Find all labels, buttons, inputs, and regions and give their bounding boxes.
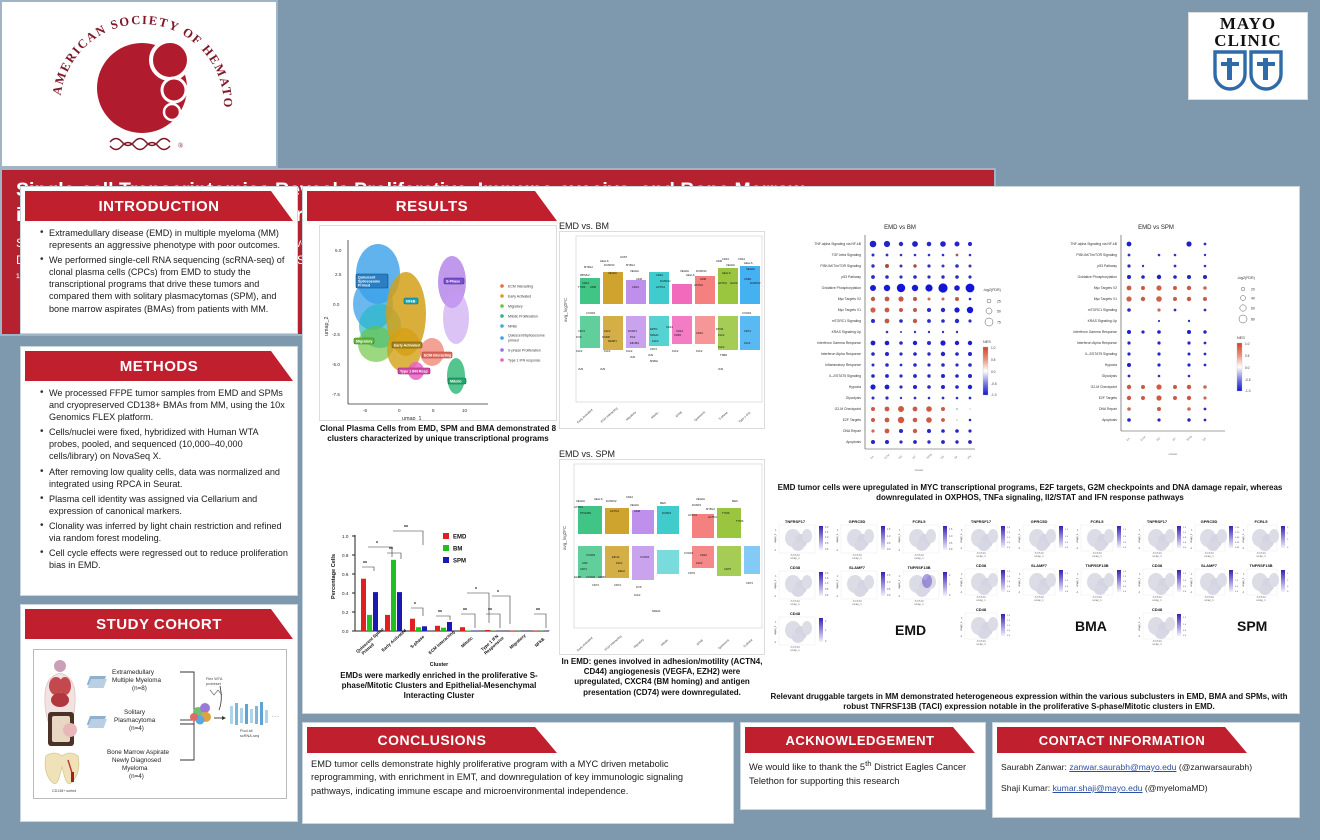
svg-text:-5 0 5 10: -5 0 5 10 xyxy=(790,600,800,603)
svg-text:1.0: 1.0 xyxy=(825,582,829,585)
svg-text:Solitary: Solitary xyxy=(124,709,146,716)
svg-text:Type 1 IFN Resp: Type 1 IFN Resp xyxy=(400,370,428,374)
svg-text:0.4: 0.4 xyxy=(342,591,349,596)
svg-text:p53 Pathway: p53 Pathway xyxy=(1097,264,1117,268)
svg-text:EA: EA xyxy=(869,454,874,459)
svg-text:4: 4 xyxy=(775,529,777,532)
svg-text:MG: MG xyxy=(897,454,903,460)
svg-text:1.5: 1.5 xyxy=(1007,576,1011,578)
svg-text:1.5: 1.5 xyxy=(825,531,829,534)
svg-text:0.4: 0.4 xyxy=(1183,542,1187,544)
svg-text:-5 0 5 10: -5 0 5 10 xyxy=(1092,596,1102,599)
svg-text:5: 5 xyxy=(432,408,435,413)
svg-text:-4: -4 xyxy=(1138,635,1141,638)
svg-text:1.5: 1.5 xyxy=(1007,620,1011,622)
svg-text:0.0: 0.0 xyxy=(1235,591,1239,593)
methods-bullets: We processed FFPE tumor samples from EMD… xyxy=(29,387,289,571)
svg-text:4: 4 xyxy=(1243,529,1245,532)
svg-text:Apoptosis: Apoptosis xyxy=(1102,418,1117,422)
svg-text:2.0: 2.0 xyxy=(1007,571,1011,573)
svg-text:1.5: 1.5 xyxy=(1183,573,1187,575)
svg-text:**: ** xyxy=(389,547,393,553)
svg-text:DUSP22: DUSP22 xyxy=(696,269,707,273)
svg-text:probeset: probeset xyxy=(206,682,222,686)
svg-text:4: 4 xyxy=(961,529,963,532)
svg-text:SLAMF7: SLAMF7 xyxy=(1201,563,1218,568)
svg-text:CD44: CD44 xyxy=(656,273,663,277)
svg-text:0.0: 0.0 xyxy=(1007,547,1011,549)
conclusions-panel: CONCLUSIONS EMD tumor cells demonstrate … xyxy=(302,722,734,824)
svg-text:ACTN4: ACTN4 xyxy=(718,281,727,285)
list-item: We performed single-cell RNA sequencing … xyxy=(41,254,289,314)
svg-text:IL-2/STAT5 Signaling: IL-2/STAT5 Signaling xyxy=(1085,352,1117,356)
gsea-emd-vs-bm-figure: EMD vs BM TNF-alpha Signaling via NF-kB … xyxy=(769,225,1031,475)
svg-text:Interferon Alpha Response: Interferon Alpha Response xyxy=(1077,341,1117,345)
svg-text:-5 0 5 10: -5 0 5 10 xyxy=(976,552,986,555)
svg-text:0.0: 0.0 xyxy=(1123,591,1127,593)
svg-text:1.0: 1.0 xyxy=(1287,539,1289,541)
svg-text:DUSP4: DUSP4 xyxy=(692,503,701,507)
contact-name: Shaji Kumar: xyxy=(1001,783,1050,793)
svg-text:0.0: 0.0 xyxy=(887,548,891,551)
svg-text:HELLS: HELLS xyxy=(722,271,731,275)
svg-text:Mitotic: Mitotic xyxy=(450,380,462,384)
svg-text:- - -: - - - xyxy=(272,714,279,719)
svg-text:4: 4 xyxy=(1139,573,1141,576)
svg-text:0.5: 0.5 xyxy=(1007,542,1011,544)
svg-text:0.5: 0.5 xyxy=(1007,586,1011,588)
svg-text:0.5: 0.5 xyxy=(887,542,891,545)
svg-text:EZH2: EZH2 xyxy=(618,569,625,573)
svg-text:ECM Interacting: ECM Interacting xyxy=(427,629,455,655)
svg-text:0.8: 0.8 xyxy=(342,553,349,558)
svg-text:-5 0 5 10: -5 0 5 10 xyxy=(1204,596,1214,599)
svg-text:4: 4 xyxy=(775,621,777,624)
svg-text:0.25: 0.25 xyxy=(1235,542,1240,544)
svg-text:Early Activated: Early Activated xyxy=(394,344,420,348)
svg-text:GPRC5D: GPRC5D xyxy=(1201,519,1218,524)
svg-text:Plasmacytoma: Plasmacytoma xyxy=(114,717,156,724)
svg-text:MES: MES xyxy=(732,499,738,503)
methods-panel: METHODS We processed FFPE tumor samples … xyxy=(20,346,298,596)
svg-text:1.5: 1.5 xyxy=(887,574,891,577)
svg-text:0.0: 0.0 xyxy=(1287,591,1289,593)
svg-text:-4: -4 xyxy=(836,595,839,598)
svg-text:ACTN4: ACTN4 xyxy=(708,515,717,519)
svg-text:0.75: 0.75 xyxy=(1235,532,1240,534)
study-cohort-diagram: CD138+ sorted Extramedullary Multiple My… xyxy=(33,649,287,799)
svg-text:KLF2: KLF2 xyxy=(634,593,641,597)
svg-text:-0.5: -0.5 xyxy=(991,382,997,386)
svg-text:G2-M Checkpoint: G2-M Checkpoint xyxy=(1091,385,1117,389)
svg-text:CD79: CD79 xyxy=(688,571,695,575)
svg-text:umap_2: umap_2 xyxy=(1189,533,1193,543)
svg-text:KLF2: KLF2 xyxy=(718,345,725,349)
svg-text:DUSP22: DUSP22 xyxy=(606,499,617,503)
svg-text:MYBL2: MYBL2 xyxy=(626,263,635,267)
svg-text:TSBD: TSBD xyxy=(720,353,727,357)
ash-logo: AMERICAN SOCIETY OF HEMATOLOGY ® xyxy=(2,2,276,166)
svg-text:Extramedullary: Extramedullary xyxy=(112,669,155,676)
svg-text:ECM Interacting: ECM Interacting xyxy=(424,354,451,358)
svg-text:CD38: CD38 xyxy=(976,563,987,568)
conclusions-text: EMD tumor cells demonstrate highly proli… xyxy=(303,753,733,798)
svg-text:ADM: ADM xyxy=(590,285,597,289)
svg-text:1.5: 1.5 xyxy=(1007,532,1011,534)
svg-text:**: ** xyxy=(438,610,442,616)
svg-text:MES: MES xyxy=(660,501,666,505)
svg-text:-5 0 5 10: -5 0 5 10 xyxy=(1034,552,1044,555)
feature-group-label-emd: EMD xyxy=(895,622,926,638)
svg-text:KLF2: KLF2 xyxy=(576,349,583,353)
svg-text:CD44: CD44 xyxy=(626,495,633,499)
svg-text:80: 80 xyxy=(1251,318,1255,322)
svg-text:-5 0 5 10: -5 0 5 10 xyxy=(1204,552,1214,555)
svg-text:0.5: 0.5 xyxy=(1183,586,1187,588)
svg-text:CD74: CD74 xyxy=(614,583,621,587)
svg-text:mTORC1 Signaling: mTORC1 Signaling xyxy=(1088,308,1117,312)
svg-text:**: ** xyxy=(463,608,467,614)
svg-text:4: 4 xyxy=(1019,529,1021,532)
mayo-logo-line1: MAYO xyxy=(1220,15,1276,32)
svg-text:**: ** xyxy=(536,608,540,614)
svg-text:CD44: CD44 xyxy=(700,553,707,557)
svg-text:VEGFA: VEGFA xyxy=(726,263,735,267)
svg-text:umap_2: umap_2 xyxy=(1137,621,1141,631)
svg-text:WPML2: WPML2 xyxy=(580,273,590,277)
svg-text:4: 4 xyxy=(1077,573,1079,576)
svg-text:40: 40 xyxy=(1251,297,1255,301)
svg-text:2.0: 2.0 xyxy=(825,526,829,529)
svg-text:0.5: 0.5 xyxy=(1065,586,1069,588)
svg-text:NFkB: NFkB xyxy=(1185,434,1193,441)
svg-text:umap_2: umap_2 xyxy=(959,621,963,631)
svg-text:ECM: ECM xyxy=(1139,435,1146,442)
svg-text:DUSP22: DUSP22 xyxy=(604,263,615,267)
svg-text:1: 1 xyxy=(825,629,827,632)
svg-text:umap_2: umap_2 xyxy=(959,533,963,543)
svg-text:Quiescent: Quiescent xyxy=(717,638,730,650)
svg-text:1.0: 1.0 xyxy=(1287,580,1289,582)
list-item: Plasma cell identity was assigned via Ce… xyxy=(41,493,289,517)
svg-text:DUSP1: DUSP1 xyxy=(628,329,637,333)
svg-text:EIF4A: EIF4A xyxy=(612,555,620,559)
svg-text:PI3K/AKT/mTOR Signaling: PI3K/AKT/mTOR Signaling xyxy=(820,264,861,268)
svg-text:MG: MG xyxy=(1155,436,1161,442)
svg-text:ECM Interacting: ECM Interacting xyxy=(508,285,533,289)
gsea-emd-vs-spm-figure: EMD vs SPM TNF-alpha Signaling via NF-kB… xyxy=(1025,225,1287,475)
svg-text:Quiescent: Quiescent xyxy=(693,410,706,422)
svg-text:-log2(FDR): -log2(FDR) xyxy=(1237,276,1255,280)
svg-text:ANK: ANK xyxy=(582,561,588,565)
svg-text:-5 0 5 10: -5 0 5 10 xyxy=(1152,596,1162,599)
svg-text:0.00: 0.00 xyxy=(1235,547,1240,549)
svg-text:(n=4): (n=4) xyxy=(129,725,144,732)
svg-text:1.0: 1.0 xyxy=(1007,581,1011,583)
feature-plots-svg: TNFRSF17 umap_2 40-4 umap_1 -5 0 5 10 2.… xyxy=(769,517,1289,689)
svg-text:CD74: CD74 xyxy=(744,329,751,333)
svg-text:E2F Targets: E2F Targets xyxy=(1099,396,1118,400)
emd-vs-spm-title: EMD vs. SPM xyxy=(559,449,765,459)
svg-text:0.5: 0.5 xyxy=(825,542,829,545)
svg-text:Oxidative Phosphorylation: Oxidative Phosphorylation xyxy=(1078,275,1118,279)
svg-text:-5 0 5 10: -5 0 5 10 xyxy=(976,640,986,643)
svg-text:FOS: FOS xyxy=(636,585,642,589)
svg-text:1.0: 1.0 xyxy=(949,535,953,538)
svg-text:-4: -4 xyxy=(1138,547,1141,550)
svg-text:TNFRSF17: TNFRSF17 xyxy=(1147,519,1168,524)
svg-text:0.0: 0.0 xyxy=(991,370,996,374)
svg-text:Early Activated: Early Activated xyxy=(576,408,594,424)
svg-text:Myc Targets V1: Myc Targets V1 xyxy=(838,308,861,312)
svg-text:0.0: 0.0 xyxy=(825,548,829,551)
svg-text:0.0: 0.0 xyxy=(333,302,340,307)
svg-text:0.0: 0.0 xyxy=(1007,635,1011,637)
svg-text:10: 10 xyxy=(462,408,468,413)
svg-text:MT: MT xyxy=(1171,436,1177,442)
svg-text:1.5: 1.5 xyxy=(1235,573,1239,575)
svg-text:CD48: CD48 xyxy=(1152,607,1163,612)
svg-text:0.0: 0.0 xyxy=(1007,591,1011,593)
svg-text:1.0: 1.0 xyxy=(1183,580,1187,582)
svg-text:primed: primed xyxy=(508,339,519,343)
svg-text:1.0: 1.0 xyxy=(825,536,829,539)
svg-text:-5 0 5 10: -5 0 5 10 xyxy=(1152,552,1162,555)
svg-text:TNFRSF13B: TNFRSF13B xyxy=(1085,563,1108,568)
svg-text:4: 4 xyxy=(1243,573,1245,576)
svg-text:CD38: CD38 xyxy=(790,565,801,570)
feature-panel-bma: TNFRSF17 40-4 umap_2 umap_1 -5 0 5 10 2.… xyxy=(959,519,1127,646)
svg-text:S-Phase: S-Phase xyxy=(446,280,460,284)
svg-text:Pool all: Pool all xyxy=(240,729,253,733)
svg-text:2.0: 2.0 xyxy=(1123,571,1127,573)
svg-text:CXCR4: CXCR4 xyxy=(640,555,650,559)
svg-text:KLF2: KLF2 xyxy=(696,561,703,565)
contact-email-link[interactable]: zanwar.saurabh@mayo.edu xyxy=(1069,762,1176,772)
svg-text:-0.5: -0.5 xyxy=(1245,378,1251,382)
svg-text:-4: -4 xyxy=(1138,591,1141,594)
svg-text:E2F Targets: E2F Targets xyxy=(843,418,862,422)
list-item: We processed FFPE tumor samples from EMD… xyxy=(41,387,289,423)
svg-text:NES: NES xyxy=(983,340,991,344)
svg-text:Migratory: Migratory xyxy=(633,637,645,649)
svg-text:NFkB: NFkB xyxy=(508,325,517,329)
svg-text:Multiple Myeloma: Multiple Myeloma xyxy=(112,677,161,684)
acknowledgement-heading: ACKNOWLEDGEMENT xyxy=(745,727,975,753)
svg-text:Apoptosis: Apoptosis xyxy=(846,440,861,444)
svg-text:CD79: CD79 xyxy=(724,567,731,571)
svg-text:JUN: JUN xyxy=(600,367,605,371)
svg-text:CXCR4: CXCR4 xyxy=(586,575,596,579)
svg-text:ECM Interacting: ECM Interacting xyxy=(604,634,623,652)
introduction-panel: INTRODUCTION Extramedullary disease (EMD… xyxy=(20,186,298,334)
svg-text:1.0: 1.0 xyxy=(1007,537,1011,539)
emd-vs-bm-figure: EMD vs. BM avg_log2FC xyxy=(553,221,765,441)
svg-text:1.5: 1.5 xyxy=(1287,573,1289,575)
svg-text:**: ** xyxy=(488,608,492,614)
results-panel: RESULTS -7.5-5.0 -2.50.0 2.55.0 -50 5 xyxy=(302,186,1300,714)
gsea-caption: EMD tumor cells were upregulated in MYC … xyxy=(773,483,1287,503)
svg-text:0.5: 0.5 xyxy=(825,588,829,591)
svg-text:ACTN4: ACTN4 xyxy=(610,509,619,513)
svg-text:ERTN: ERTN xyxy=(650,327,657,331)
svg-text:1.0: 1.0 xyxy=(1235,580,1239,582)
svg-text:ACTN4: ACTN4 xyxy=(688,513,697,517)
svg-text:1.0: 1.0 xyxy=(342,534,349,539)
svg-text:IL-2/STAT5 Signaling: IL-2/STAT5 Signaling xyxy=(829,374,861,378)
svg-text:Percentage Cells: Percentage Cells xyxy=(331,554,337,599)
svg-text:PTGFRN: PTGFRN xyxy=(580,511,591,515)
feature-panel-emd: TNFRSF17 umap_2 40-4 umap_1 -5 0 5 10 2.… xyxy=(773,519,953,652)
ash-logo-panel: AMERICAN SOCIETY OF HEMATOLOGY ® xyxy=(0,0,278,168)
svg-text:1.0: 1.0 xyxy=(1183,624,1187,626)
emd-vs-bm-svg: avg_log2FC xyxy=(560,232,765,429)
svg-text:-5 0 5 10: -5 0 5 10 xyxy=(1152,640,1162,643)
poster-root: AMERICAN SOCIETY OF HEMATOLOGY ® Single-… xyxy=(0,0,1320,840)
contact-email-link[interactable]: kumar.shaji@mayo.edu xyxy=(1053,783,1143,793)
svg-text:2.0: 2.0 xyxy=(1287,527,1289,529)
svg-text:umap_2: umap_2 xyxy=(959,577,963,587)
svg-text:S-phase: S-phase xyxy=(409,634,425,650)
svg-text:4: 4 xyxy=(837,575,839,578)
svg-text:MYBL2: MYBL2 xyxy=(706,507,715,511)
svg-text:Interferon Gamma Response: Interferon Gamma Response xyxy=(1073,330,1117,334)
svg-text:4: 4 xyxy=(775,575,777,578)
svg-text:TNFRSF13B: TNFRSF13B xyxy=(907,565,930,570)
svg-text:VEGFA: VEGFA xyxy=(630,503,639,507)
svg-text:-4: -4 xyxy=(1076,591,1079,594)
cluster-percentage-chart: 0.00.2 0.40.6 0.81.0 Percentage Cells xyxy=(321,521,557,669)
gsea-spm-svg: TNF-alpha Signaling via NF-kB PI3K/AKT/m… xyxy=(1025,231,1287,475)
svg-text:1.00: 1.00 xyxy=(1235,527,1240,529)
svg-text:CXCR4: CXCR4 xyxy=(586,553,596,557)
svg-text:25: 25 xyxy=(997,300,1001,304)
svg-text:4: 4 xyxy=(837,529,839,532)
svg-text:TYMS: TYMS xyxy=(722,511,730,515)
svg-text:4: 4 xyxy=(1077,529,1079,532)
svg-text:0.5: 0.5 xyxy=(887,588,891,591)
svg-text:TNFRSF17: TNFRSF17 xyxy=(971,519,992,524)
svg-text:KLF2: KLF2 xyxy=(616,561,623,565)
svg-text:S-phase Proliferation: S-phase Proliferation xyxy=(508,349,541,353)
svg-text:Migratory: Migratory xyxy=(508,305,523,309)
emd-vs-spm-svg: avg_log2FC xyxy=(560,460,765,655)
svg-text:1.0: 1.0 xyxy=(887,535,891,538)
svg-text:-5 0 5 10: -5 0 5 10 xyxy=(790,554,800,557)
svg-text:TNF-alpha Signaling via NF-kB: TNF-alpha Signaling via NF-kB xyxy=(814,242,861,246)
svg-text:1.5: 1.5 xyxy=(1065,529,1069,531)
svg-text:20: 20 xyxy=(1251,288,1255,292)
svg-text:umap_2: umap_2 xyxy=(1137,533,1141,543)
svg-text:PI3K/AKT/mTOR Signaling: PI3K/AKT/mTOR Signaling xyxy=(1076,253,1117,257)
svg-text:0.5: 0.5 xyxy=(1183,630,1187,632)
svg-text:KLF2: KLF2 xyxy=(626,349,633,353)
svg-text:-4: -4 xyxy=(898,595,901,598)
svg-text:1.0: 1.0 xyxy=(1065,580,1069,582)
svg-text:CXCR4: CXCR4 xyxy=(684,551,694,555)
svg-text:SLAMF7: SLAMF7 xyxy=(1031,563,1048,568)
svg-text:-5 0 5 10: -5 0 5 10 xyxy=(1034,596,1044,599)
svg-text:-7.5: -7.5 xyxy=(332,392,340,397)
study-cohort-heading: STUDY COHORT xyxy=(25,609,293,639)
svg-text:KLF2: KLF2 xyxy=(696,349,703,353)
svg-text:4: 4 xyxy=(1191,573,1193,576)
mayo-shield-icon xyxy=(1211,50,1285,94)
svg-text:0.0: 0.0 xyxy=(887,594,891,597)
svg-text:0.50: 0.50 xyxy=(1235,537,1240,539)
svg-text:CD48: CD48 xyxy=(790,611,801,616)
svg-text:0.0: 0.0 xyxy=(1065,591,1069,593)
svg-text:CD38: CD38 xyxy=(1152,563,1163,568)
svg-text:HELLS: HELLS xyxy=(594,497,603,501)
svg-text:1.5: 1.5 xyxy=(825,577,829,580)
feature-plots-figure: TNFRSF17 umap_2 40-4 umap_1 -5 0 5 10 2.… xyxy=(769,517,1289,707)
svg-text:TGF-beta Signaling: TGF-beta Signaling xyxy=(832,253,862,257)
feature-panel-spm: TNFRSF17 40-4 umap_2 umap_1 -5 0 5 10 1.… xyxy=(1137,519,1289,646)
svg-text:Myeloma: Myeloma xyxy=(122,765,148,772)
svg-text:0.5: 0.5 xyxy=(1235,586,1239,588)
svg-text:CD74: CD74 xyxy=(650,347,657,351)
svg-text:4: 4 xyxy=(899,575,901,578)
svg-text:-4: -4 xyxy=(774,641,777,644)
svg-text:Glycolysis: Glycolysis xyxy=(1102,374,1118,378)
svg-text:-5 0 5 10: -5 0 5 10 xyxy=(1092,552,1102,555)
svg-text:0.5: 0.5 xyxy=(1287,547,1289,549)
svg-text:®: ® xyxy=(178,142,184,150)
svg-text:CXCR4: CXCR4 xyxy=(742,311,752,315)
svg-text:0: 0 xyxy=(949,594,951,597)
svg-text:umap_2: umap_2 xyxy=(1075,533,1079,543)
svg-text:FCRL5: FCRL5 xyxy=(1091,519,1105,524)
svg-text:*: * xyxy=(497,590,499,596)
svg-text:2: 2 xyxy=(949,574,951,577)
svg-text:-1.0: -1.0 xyxy=(1245,389,1251,393)
acknowledgement-text: We would like to thank the 5th District … xyxy=(741,753,985,788)
ack-text-part1: We would like to thank the 5 xyxy=(749,762,865,772)
svg-text:1.0: 1.0 xyxy=(1065,536,1069,538)
svg-text:NFkB: NFkB xyxy=(675,410,683,418)
svg-text:-4: -4 xyxy=(774,549,777,552)
svg-text:Inflammatory Response: Inflammatory Response xyxy=(825,363,861,367)
svg-text:TNFRSF17: TNFRSF17 xyxy=(785,519,806,524)
svg-text:0.5: 0.5 xyxy=(1007,630,1011,632)
svg-text:*: * xyxy=(376,541,378,547)
svg-text:NR4A1: NR4A1 xyxy=(652,609,661,613)
svg-text:ECM Interacting: ECM Interacting xyxy=(600,406,619,424)
svg-text:4: 4 xyxy=(961,617,963,620)
svg-text:(n=4): (n=4) xyxy=(129,773,144,780)
list-item: Cells/nuclei were fixed, hybridized with… xyxy=(41,426,289,462)
svg-text:-4: -4 xyxy=(1242,547,1245,550)
svg-text:-4: -4 xyxy=(1018,547,1021,550)
feature-plots-caption: Relevant druggable targets in MM demonst… xyxy=(769,692,1289,712)
svg-text:EGFP: EGFP xyxy=(574,575,582,579)
svg-text:SDPR: SDPR xyxy=(598,575,606,579)
contact-name: Saurabh Zanwar: xyxy=(1001,762,1067,772)
svg-text:4: 4 xyxy=(961,573,963,576)
svg-text:50: 50 xyxy=(997,310,1001,314)
svg-text:JUN: JUN xyxy=(630,355,635,359)
umap-svg: -7.5-5.0 -2.50.0 2.55.0 -50 510 umap_1 u… xyxy=(320,226,557,421)
svg-text:-5 0 5 10: -5 0 5 10 xyxy=(852,554,862,557)
svg-text:1.0: 1.0 xyxy=(991,346,996,350)
svg-text:0.2: 0.2 xyxy=(342,610,349,615)
svg-text:cluster: cluster xyxy=(1169,452,1178,456)
svg-text:1.5: 1.5 xyxy=(1287,533,1289,535)
svg-text:FOS: FOS xyxy=(576,335,582,339)
svg-text:KLF2: KLF2 xyxy=(672,349,679,353)
svg-text:**: ** xyxy=(404,525,408,531)
